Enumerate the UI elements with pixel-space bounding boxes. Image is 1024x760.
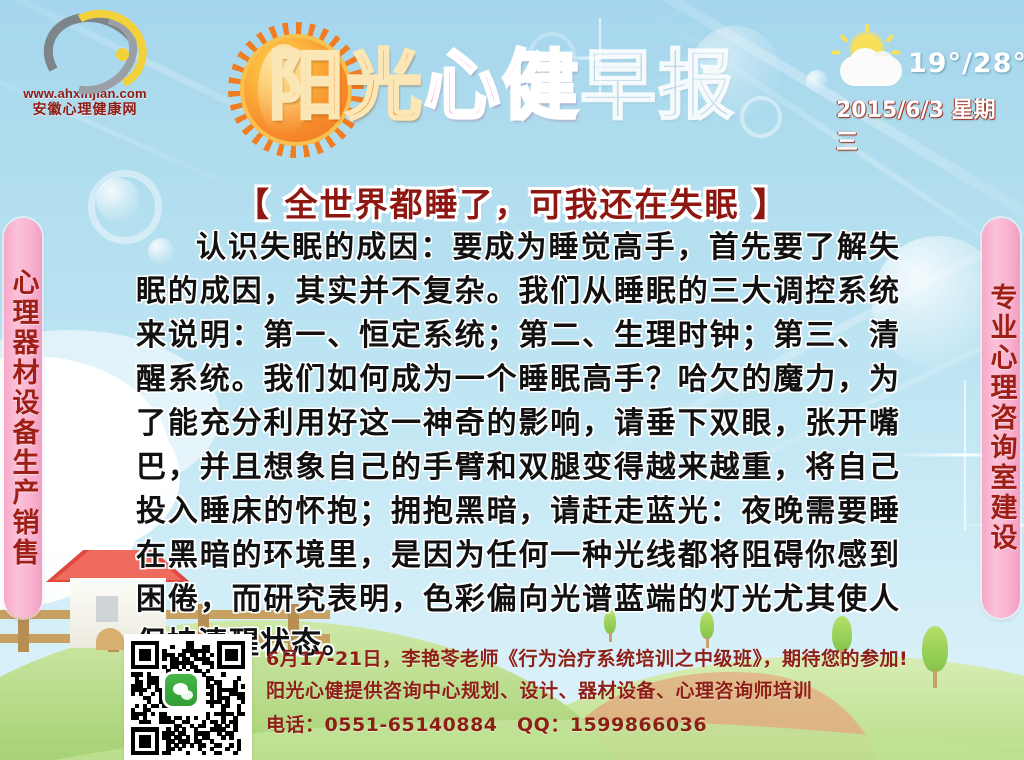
footer-line-training: 6月17-21日，李艳苓老师《行为治疗系统培训之中级班》，期待您的参加! <box>266 644 966 674</box>
headline: 【 全世界都睡了，可我还在失眠 】 <box>0 178 1024 226</box>
weather-temperature: 19°/28° <box>908 48 1024 79</box>
side-banner-right[interactable]: 专业心理咨询室建设 <box>982 218 1020 618</box>
footer-line-services: 阳光心健提供咨询中心规划、设计、器材设备、心理咨询师培训 <box>266 674 966 708</box>
masthead-word-morningpost: 早报 <box>580 26 736 146</box>
article-body: 认识失眠的成因：要成为睡觉高手，首先要了解失眠的成因，其实并不复杂。我们从睡眠的… <box>136 226 900 666</box>
newsletter-poster: www.ahxinjian.com 安徽心理健康网 阳光心健早报 19°/28°… <box>0 0 1024 760</box>
side-banner-left[interactable]: 心理器材设备生产销售 <box>4 218 42 618</box>
masthead-word-sunshine: 阳光 <box>268 26 424 146</box>
swirl-logo-icon <box>35 8 135 86</box>
site-logo[interactable]: www.ahxinjian.com 安徽心理健康网 <box>10 8 160 123</box>
page-title: 阳光心健早报 <box>268 26 828 146</box>
weather-date: 2015/6/3 星期三 <box>836 92 1016 156</box>
footer-line-contact: 电话：0551-65140884 QQ：1599866036 <box>266 708 966 742</box>
weather-widget: 19°/28° 2015/6/3 星期三 <box>836 30 1016 130</box>
logo-site-name: 安徽心理健康网 <box>10 101 160 118</box>
qr-code-icon[interactable] <box>124 634 252 760</box>
footer-info: 6月17-21日，李艳苓老师《行为治疗系统培训之中级班》，期待您的参加! 阳光心… <box>266 644 966 742</box>
side-banner-right-label: 专业心理咨询室建设 <box>982 283 1021 553</box>
side-banner-left-label: 心理器材设备生产销售 <box>4 268 43 568</box>
masthead-word-xinjian: 心健 <box>424 26 580 146</box>
sun-behind-cloud-icon <box>840 32 906 90</box>
wechat-logo-icon <box>165 674 197 706</box>
